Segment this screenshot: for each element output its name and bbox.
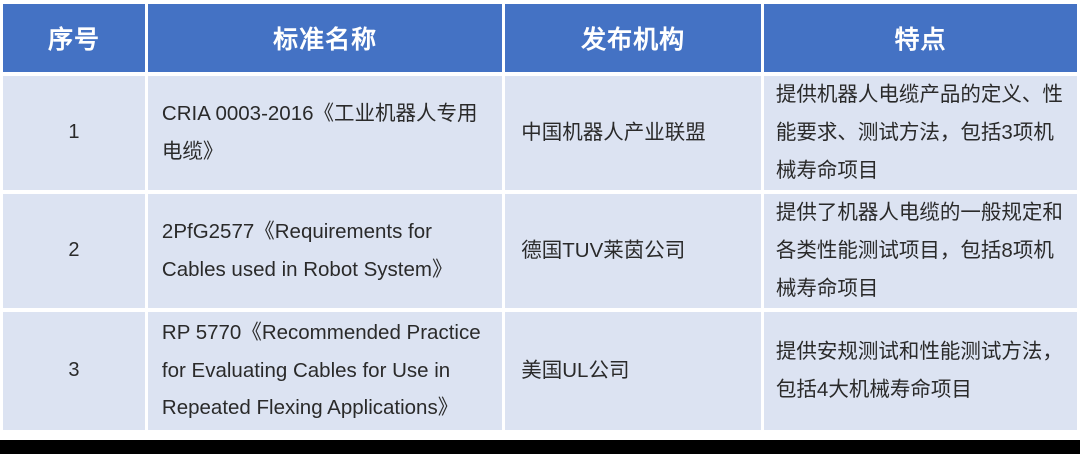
table-body: 1 CRIA 0003-2016《工业机器人专用电缆》 中国机器人产业联盟 提供…: [3, 76, 1077, 430]
table-header: 序号 标准名称 发布机构 特点: [3, 4, 1077, 72]
column-header-features: 特点: [764, 4, 1077, 72]
cell-features: 提供了机器人电缆的一般规定和各类性能测试项目，包括8项机械寿命项目: [764, 194, 1077, 308]
table-row: 2 2PfG2577《Requirements for Cables used …: [3, 194, 1077, 308]
cell-index: 1: [3, 76, 145, 190]
cell-index: 3: [3, 312, 145, 430]
cell-standard-name: CRIA 0003-2016《工业机器人专用电缆》: [148, 76, 502, 190]
cell-standard-name: RP 5770《Recommended Practice for Evaluat…: [148, 312, 502, 430]
table-row: 1 CRIA 0003-2016《工业机器人专用电缆》 中国机器人产业联盟 提供…: [3, 76, 1077, 190]
standards-comparison-table: 序号 标准名称 发布机构 特点 1 CRIA 0003-2016《工业机器人专用…: [0, 0, 1080, 434]
cell-index: 2: [3, 194, 145, 308]
cell-publishing-organization: 美国UL公司: [505, 312, 761, 430]
header-row: 序号 标准名称 发布机构 特点: [3, 4, 1077, 72]
column-header-standard-name: 标准名称: [148, 4, 502, 72]
column-header-index: 序号: [3, 4, 145, 72]
table-row: 3 RP 5770《Recommended Practice for Evalu…: [3, 312, 1077, 430]
column-header-publishing-organization: 发布机构: [505, 4, 761, 72]
cell-standard-name: 2PfG2577《Requirements for Cables used in…: [148, 194, 502, 308]
bottom-black-bar: [0, 440, 1080, 454]
cell-publishing-organization: 德国TUV莱茵公司: [505, 194, 761, 308]
table-page: 序号 标准名称 发布机构 特点 1 CRIA 0003-2016《工业机器人专用…: [0, 0, 1080, 454]
cell-publishing-organization: 中国机器人产业联盟: [505, 76, 761, 190]
cell-features: 提供安规测试和性能测试方法，包括4大机械寿命项目: [764, 312, 1077, 430]
cell-features: 提供机器人电缆产品的定义、性能要求、测试方法，包括3项机械寿命项目: [764, 76, 1077, 190]
